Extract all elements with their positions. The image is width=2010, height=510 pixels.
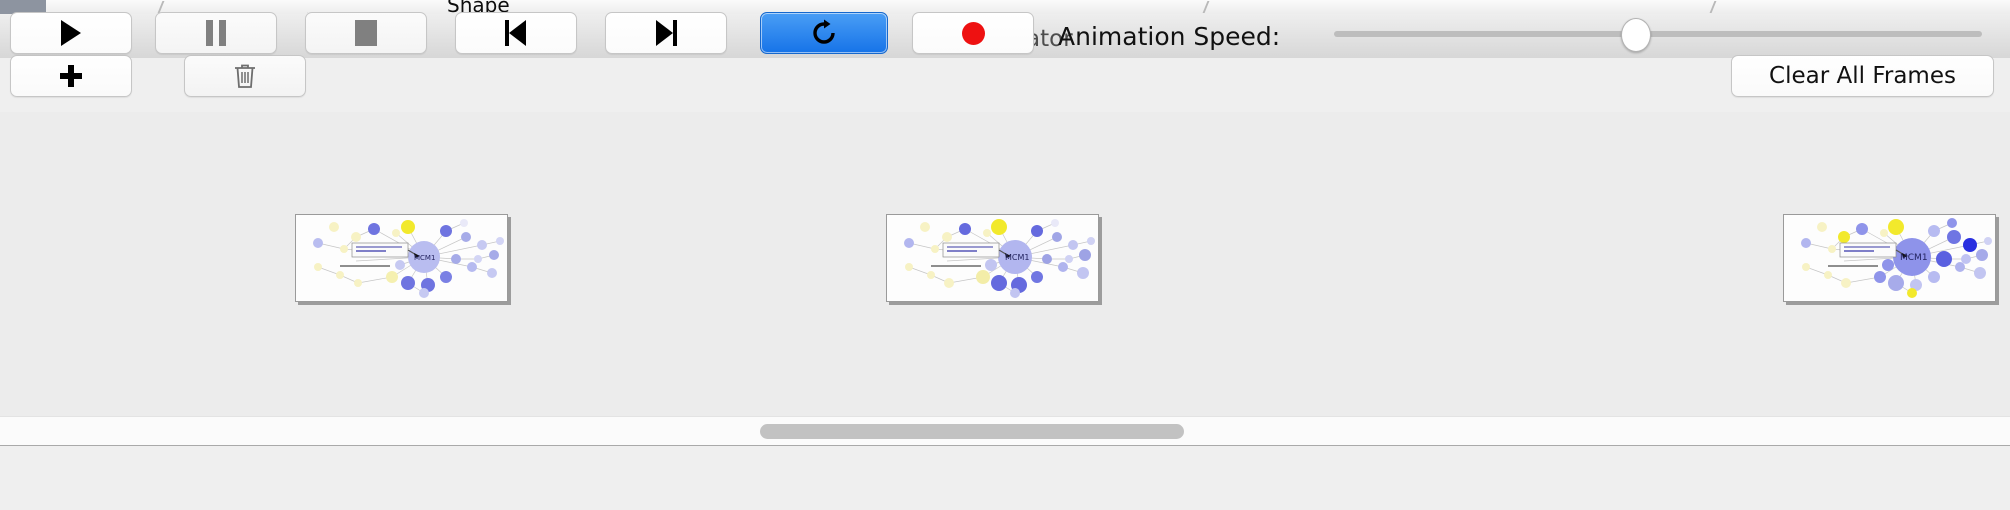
slider-track[interactable] (1334, 31, 1982, 37)
network-preview: MCM1 (296, 215, 507, 301)
animation-speed-label: Animation Speed: (1058, 22, 1280, 51)
loop-button[interactable] (760, 12, 888, 54)
next-button[interactable] (605, 12, 727, 54)
frame-thumbnail[interactable]: MCM1 (295, 214, 508, 302)
delete-frame-button[interactable] (184, 55, 306, 97)
record-icon (962, 22, 985, 45)
clear-all-frames-button[interactable]: Clear All Frames (1731, 55, 1994, 97)
play-icon (61, 20, 81, 46)
previous-button[interactable] (455, 12, 577, 54)
cyanimator-window: Shape CyAnimator Clear All Frames (0, 0, 2010, 510)
timeline-panel[interactable]: MCM1 (0, 112, 2010, 416)
plus-icon (59, 64, 83, 88)
loop-icon (809, 18, 839, 48)
svg-text:MCM1: MCM1 (1900, 253, 1928, 263)
skip-previous-icon (504, 20, 528, 46)
svg-text:MCM1: MCM1 (414, 254, 435, 262)
trash-icon (232, 62, 258, 90)
play-button[interactable] (10, 12, 132, 54)
clear-all-frames-label: Clear All Frames (1769, 63, 1956, 89)
network-graph: MCM1 (887, 215, 1099, 302)
frame-thumbnail[interactable]: MCM1 (1783, 214, 1996, 302)
playback-controls (0, 446, 2010, 510)
network-graph: MCM1 (296, 215, 508, 302)
network-graph: MCM1 (1784, 215, 1996, 302)
skip-next-icon (654, 20, 678, 46)
record-button[interactable] (912, 12, 1034, 54)
add-frame-button[interactable] (10, 55, 132, 97)
pause-button[interactable] (155, 12, 277, 54)
frame-thumbnail[interactable]: MCM1 (886, 214, 1099, 302)
timeline-scrollbar[interactable] (0, 416, 2010, 447)
stop-button[interactable] (305, 12, 427, 54)
svg-text:MCM1: MCM1 (1005, 253, 1029, 262)
stop-icon (355, 20, 377, 46)
animation-speed-slider[interactable] (1334, 31, 1982, 37)
scrollbar-thumb[interactable] (760, 424, 1184, 439)
pause-icon (205, 20, 227, 46)
network-preview: MCM1 (887, 215, 1098, 301)
slider-thumb[interactable] (1621, 18, 1651, 52)
network-preview: MCM1 (1784, 215, 1995, 301)
